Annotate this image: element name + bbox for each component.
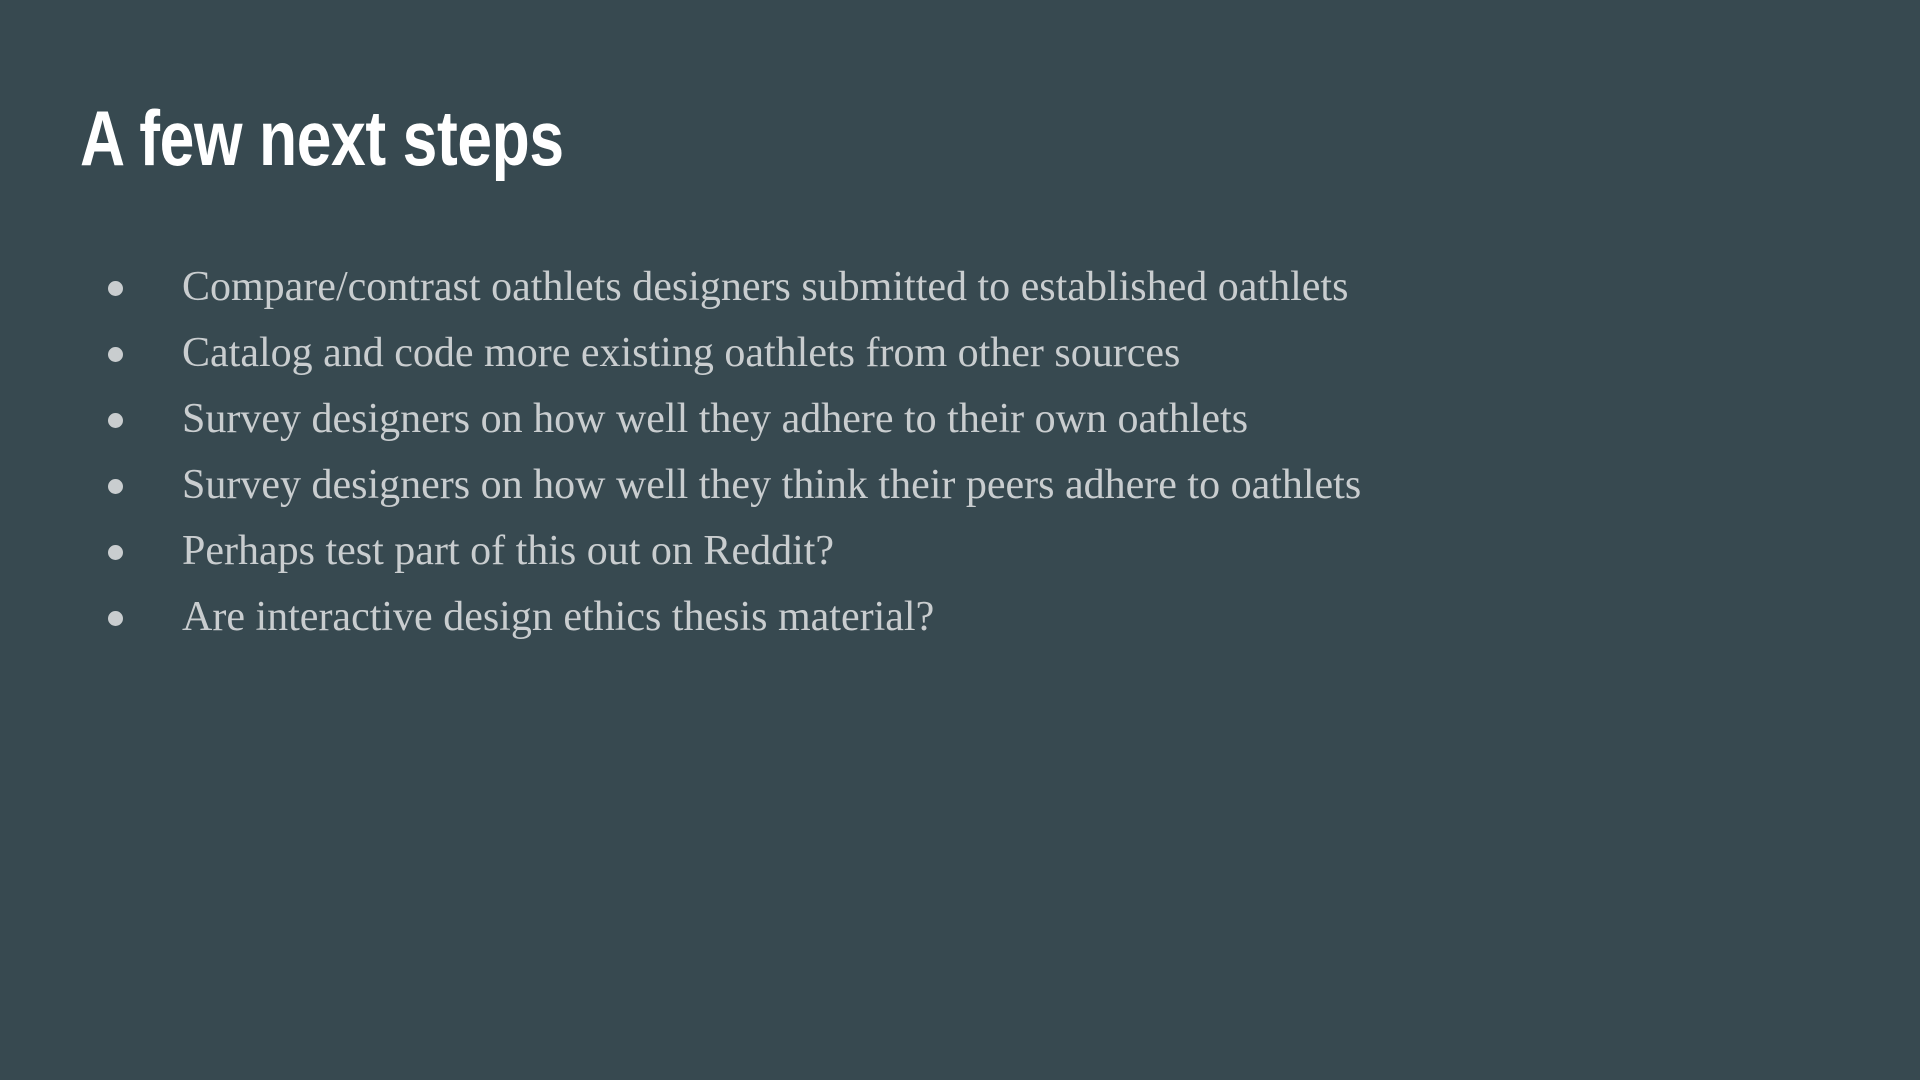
list-item: Are interactive design ethics thesis mat…: [100, 588, 1800, 654]
list-item-label: Catalog and code more existing oathlets …: [182, 324, 1800, 382]
list-item: Catalog and code more existing oathlets …: [100, 324, 1800, 390]
bullet-dot-icon: [108, 347, 123, 362]
list-item-label: Survey designers on how well they adhere…: [182, 390, 1800, 448]
bullet-list: Compare/contrast oathlets designers subm…: [100, 258, 1800, 654]
list-item: Compare/contrast oathlets designers subm…: [100, 258, 1800, 324]
presentation-slide: A few next steps Compare/contrast oathle…: [0, 0, 1920, 1080]
bullet-dot-icon: [108, 479, 123, 494]
list-item: Survey designers on how well they adhere…: [100, 390, 1800, 456]
bullet-dot-icon: [108, 413, 123, 428]
list-item: Survey designers on how well they think …: [100, 456, 1800, 522]
list-item-label: Perhaps test part of this out on Reddit?: [182, 522, 1800, 580]
list-item-label: Survey designers on how well they think …: [182, 456, 1800, 514]
list-item-label: Are interactive design ethics thesis mat…: [182, 588, 1800, 646]
bullet-dot-icon: [108, 611, 123, 626]
bullet-dot-icon: [108, 545, 123, 560]
slide-title: A few next steps: [80, 96, 564, 180]
bullet-dot-icon: [108, 281, 123, 296]
list-item: Perhaps test part of this out on Reddit?: [100, 522, 1800, 588]
list-item-label: Compare/contrast oathlets designers subm…: [182, 258, 1800, 316]
